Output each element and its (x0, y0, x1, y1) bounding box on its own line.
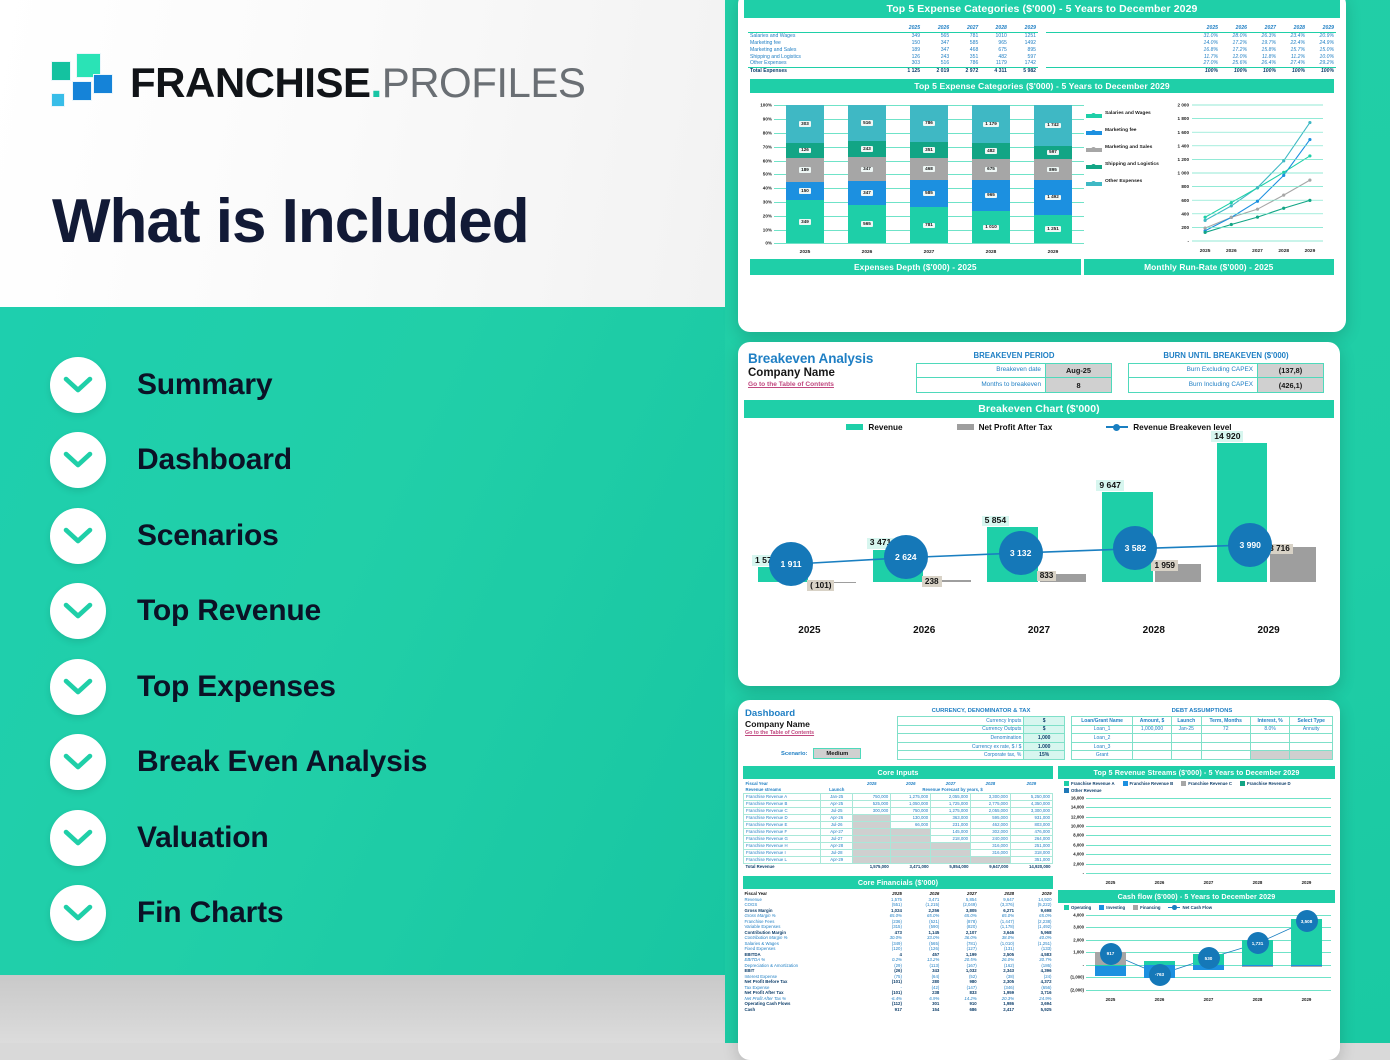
bar-segment: 1 179 (972, 105, 1010, 143)
table-row: Loan_2 (1072, 734, 1333, 743)
revenue-chart-plot: -2,0004,0006,0008,00010,00012,00014,0001… (1060, 796, 1333, 886)
y-tick-label: 60% (763, 158, 772, 163)
page-title: What is Included (52, 186, 529, 257)
bar-value-label: 786 (923, 121, 935, 126)
line-chart-legend: Salaries and WagesMarketing feeMarketing… (1086, 99, 1162, 257)
legend-item-revenue: Revenue (846, 423, 902, 432)
bar-column (1184, 798, 1233, 873)
legend-label: Salaries and Wages (1105, 111, 1151, 117)
legend-swatch (1064, 781, 1069, 786)
y-tick-label: 6,000 (1073, 842, 1084, 847)
bar-column: 1 7425978951 4921 251 (1022, 105, 1084, 243)
y-tick-label: 3,000 (1073, 925, 1084, 930)
bar-column: 5 8548333 132 (982, 436, 1097, 610)
bar-segment: 347 (848, 181, 886, 205)
table-row: Franchise Revenue FApr-27145,000302,0004… (744, 828, 1053, 835)
gridline: - (1086, 873, 1331, 874)
x-tick-label: 2029 (1282, 880, 1331, 885)
feature-label: Top Expenses (137, 670, 336, 704)
bottom-grey-strip (0, 975, 725, 1043)
bar-segment: 781 (910, 207, 948, 243)
bar-column (1135, 798, 1184, 873)
chevron-down-icon (50, 659, 106, 715)
x-tick-label: 2025 (752, 625, 867, 636)
bar-segment-investing (1242, 965, 1273, 966)
currency-denominator-tax-block: CURRENCY, DENOMINATOR & TAX Currency Inp… (897, 708, 1065, 760)
cashflow-chart-plot: (2,000)(1,000)-1,0002,0003,0004,000917-7… (1060, 913, 1333, 1003)
field-value: Aug-25 (1045, 364, 1111, 377)
revenue-streams-chart-band: Top 5 Revenue Streams ($'000) - 5 Years … (1058, 766, 1335, 779)
npat-value-label: ( 101) (807, 580, 834, 590)
col-head: 2026 (1220, 25, 1249, 32)
x-tick-label: 2027 (1184, 880, 1233, 885)
bar-value-label: 565 (861, 221, 873, 226)
table-row: Franchise Revenue AJan-25750,0001,275,00… (744, 793, 1053, 800)
net-cash-flow-bubble: 1,731 (1247, 932, 1269, 954)
logo-square-blue-mid (72, 81, 92, 101)
table-row: Marketing fee1503475859651492 (748, 40, 1038, 47)
expenses-absolute-table: 2025 2026 2027 2028 2029 Salaries and Wa… (748, 25, 1038, 74)
legend-item: Marketing fee (1086, 128, 1162, 135)
legend-swatch-npat (957, 424, 974, 430)
scenario-value[interactable]: Medium (813, 748, 861, 759)
legend-label: Other Expenses (1105, 179, 1142, 185)
legend-label: Net Profit After Tax (979, 423, 1053, 432)
bar-segment: 482 (972, 143, 1010, 158)
svg-text:2025: 2025 (1200, 248, 1211, 254)
legend-label: Other Revenue (1071, 788, 1102, 793)
y-tick-label: 2,000 (1073, 937, 1084, 942)
field-value: (426,1) (1257, 378, 1323, 391)
bar-value-label: 1 492 (1045, 195, 1061, 200)
field-label: Months to breakeven (917, 378, 1045, 391)
npat-value-label: 1 959 (1151, 560, 1178, 570)
svg-text:2028: 2028 (1278, 248, 1289, 254)
net-cash-flow-bubble: 3,508 (1296, 910, 1318, 932)
legend-swatch (1086, 148, 1102, 152)
bar-value-label: 895 (1047, 167, 1059, 172)
svg-text:1 600: 1 600 (1178, 130, 1190, 135)
bar-column: 516243347347565 (836, 105, 898, 243)
table-row: 31.0%28.0%26.3%23.4%20.9% (1046, 32, 1336, 39)
feature-item-summary[interactable]: Summary (50, 347, 650, 423)
bar-value-label: 126 (799, 148, 811, 153)
legend-label: Franchise Revenue B (1130, 781, 1174, 786)
y-tick-label: - (1083, 870, 1084, 875)
revenue-value-label: 14 920 (1211, 431, 1243, 442)
breakeven-chart-plot: 1 575( 101)1 9113 4712382 6245 8548333 1… (752, 436, 1326, 636)
y-tick-label: 100% (760, 103, 772, 108)
legend-swatch (1064, 788, 1069, 793)
col-head: 2025 (1191, 25, 1220, 32)
npat-value-label: 833 (1037, 571, 1057, 581)
x-tick-label: 2029 (1211, 625, 1326, 636)
company-name: Company Name (745, 719, 897, 729)
bar-value-label: 1 742 (1045, 123, 1061, 128)
table-row: Franchise Revenue EJul-2666,000231,00046… (744, 821, 1053, 828)
bar-column: 9 6471 9593 582 (1096, 436, 1211, 610)
legend-item: Marketing and Sales (1086, 145, 1162, 152)
bar-column (1086, 798, 1135, 873)
revenue-value-label: 5 854 (982, 516, 1010, 527)
table-header-row: Loan/Grant Name Amount, $ Launch Term, M… (1072, 717, 1333, 726)
y-tick-label: 50% (763, 172, 772, 177)
scenario-selector[interactable]: Scenario: Medium (745, 748, 897, 759)
legend-swatch-revenue (846, 424, 863, 430)
svg-text:800: 800 (1181, 185, 1189, 190)
svg-text:400: 400 (1181, 212, 1189, 217)
revenue-value-label: 9 647 (1096, 480, 1124, 491)
svg-text:2 000: 2 000 (1178, 103, 1190, 108)
col-head: 2028 (980, 25, 1009, 32)
bar-column: 3 4712382 624 (867, 436, 982, 610)
gridline: 0% (774, 243, 1084, 244)
feature-label: Summary (137, 368, 272, 402)
top-expenses-screenshot-card[interactable]: Top 5 Expense Categories ($'000) - 5 Yea… (738, 0, 1346, 332)
x-tick-label: 2027 (982, 625, 1097, 636)
table-row: Other Expenses30351678611791742 (748, 60, 1038, 67)
chevron-down-icon (50, 734, 106, 790)
line-chart-svg: -2004006008001 0001 2001 4001 6001 8002 … (1162, 99, 1327, 257)
legend-label: Net Cash Flow (1182, 905, 1212, 910)
table-of-contents-link[interactable]: Go to the Table of Contents (748, 381, 916, 388)
table-of-contents-link[interactable]: Go to the Table of Contents (745, 730, 897, 736)
gridline: (2,000) (1086, 990, 1331, 991)
y-tick-label: - (1083, 962, 1084, 967)
table-total-row: Total Expenses1 1252 0192 9724 3115 982 (748, 67, 1038, 74)
x-tick-label: 2025 (774, 250, 836, 255)
breakeven-analysis-screenshot-card[interactable]: Breakeven Analysis Company Name Go to th… (738, 342, 1340, 686)
logo-square-teal (51, 61, 71, 81)
core-inputs-band: Core Inputs (743, 766, 1053, 779)
bar-segment: 516 (848, 105, 886, 140)
breakeven-chart-title: Breakeven Chart ($'000) (744, 400, 1334, 418)
y-tick-label: 0% (765, 241, 772, 246)
y-tick-label: 16,000 (1071, 795, 1084, 800)
x-tick-label: 2029 (1022, 250, 1084, 255)
legend-swatch (1123, 781, 1128, 786)
bar-segment: 347 (848, 157, 886, 181)
legend-label: Revenue (868, 423, 902, 432)
burn-including-capex-row: Burn Including CAPEX (426,1) (1128, 377, 1324, 392)
burn-excluding-capex-row: Burn Excluding CAPEX (137,8) (1128, 363, 1324, 377)
feature-label: Dashboard (137, 443, 292, 477)
bar-segment: 349 (786, 200, 824, 243)
breakeven-period-title: BREAKEVEN PERIOD (916, 351, 1112, 360)
table-row: Denomination1,000 (898, 734, 1065, 743)
svg-text:200: 200 (1181, 225, 1189, 230)
expenses-tables: 2025 2026 2027 2028 2029 Salaries and Wa… (744, 25, 1340, 74)
monthly-run-rate-line-chart: Salaries and WagesMarketing feeMarketing… (1086, 99, 1338, 257)
svg-text:2027: 2027 (1252, 248, 1263, 254)
y-tick-label: 10% (763, 227, 772, 232)
brand-wordmark: FRANCHISE.PROFILES (130, 59, 585, 107)
legend-item: Other Expenses (1086, 179, 1162, 186)
brand-name-strong: FRANCHISE (130, 59, 371, 106)
burn-until-breakeven-block: BURN UNTIL BREAKEVEN ($'000) Burn Exclud… (1128, 351, 1324, 393)
cashflow-chart-legend: OperatingInvestingFinancingNet Cash Flow (1058, 903, 1335, 911)
logo-mosaic-icon (50, 52, 112, 114)
legend-swatch (1086, 131, 1102, 135)
x-tick-label: 2028 (1233, 880, 1282, 885)
y-tick-label: (2,000) (1070, 987, 1084, 992)
legend-label: Shipping and Logistics (1105, 162, 1159, 168)
legend-label: Franchise Revenue C (1188, 781, 1232, 786)
debt-table: Loan/Grant Name Amount, $ Launch Term, M… (1071, 716, 1333, 760)
bar-value-label: 585 (923, 191, 935, 196)
table-row: Grant (1072, 751, 1333, 760)
y-tick-label: 12,000 (1071, 814, 1084, 819)
bar-column: 1 575( 101)1 911 (752, 436, 867, 610)
svg-text:1 000: 1 000 (1178, 171, 1190, 176)
col-head: 2028 (1278, 25, 1307, 32)
legend-item: Franchise Revenue A (1064, 781, 1115, 786)
bar-value-label: 468 (923, 166, 935, 171)
table-row: Shipping and Logistics126243351482597 (748, 53, 1038, 60)
legend-swatch-line (1168, 907, 1180, 909)
legend-item: Investing (1099, 905, 1125, 910)
revenue-chart-legend: Franchise Revenue AFranchise Revenue BFr… (1058, 779, 1335, 794)
legend-item-npat: Net Profit After Tax (957, 423, 1053, 432)
currency-block-title: CURRENCY, DENOMINATOR & TAX (897, 708, 1065, 714)
feature-label: Top Revenue (137, 594, 321, 628)
col-head: 2029 (1307, 25, 1336, 32)
bar-column (1282, 798, 1331, 873)
breakeven-bubble: 1 911 (769, 542, 813, 586)
legend-swatch (1133, 905, 1138, 910)
x-tick-label: 2029 (1282, 997, 1331, 1002)
feature-item-dashboard[interactable]: Dashboard (50, 423, 650, 499)
svg-text:2029: 2029 (1305, 248, 1316, 254)
table-row: Franchise Revenue BApr-25525,0001,050,00… (744, 800, 1053, 807)
logo-square-blue-right (93, 74, 113, 94)
bar-value-label: 1 179 (983, 122, 999, 127)
feature-item-break-even-analysis[interactable]: Break Even Analysis (50, 725, 650, 801)
table-row: Franchise Revenue GJul-27218,000240,0002… (744, 835, 1053, 842)
chevron-down-icon (50, 508, 106, 564)
net-cash-flow-bubble: 530 (1198, 947, 1220, 969)
bar-segment-investing (1291, 965, 1322, 966)
table-total-row: 100%100%100%100%100% (1046, 67, 1336, 74)
legend-label: Marketing fee (1105, 128, 1137, 134)
company-name: Company Name (748, 367, 916, 379)
legend-label: Marketing and Sales (1105, 145, 1152, 151)
bar-column: 1 1794826759651 010 (960, 105, 1022, 243)
breakeven-bubble: 3 132 (999, 531, 1043, 575)
table-row: Franchise Revenue HApr-28316,000251,000 (744, 842, 1053, 849)
table-row: Currency Inputs$ (898, 717, 1065, 726)
cashflow-chart: OperatingInvestingFinancingNet Cash Flow… (1058, 903, 1335, 1003)
col-head: 2025 (893, 25, 922, 32)
chevron-down-icon (50, 583, 106, 639)
bar-value-label: 349 (799, 219, 811, 224)
top-left-white-panel (0, 0, 725, 307)
breakeven-sheet-title: Breakeven Analysis (748, 351, 916, 366)
feature-item-valuation[interactable]: Valuation (50, 800, 650, 876)
expenses-chart-title: Top 5 Expense Categories ($'000) - 5 Yea… (750, 79, 1334, 93)
y-tick-label: 20% (763, 213, 772, 218)
feature-label: Fin Charts (137, 896, 283, 930)
months-to-breakeven-row: Months to breakeven 8 (916, 377, 1112, 392)
core-financials-table: Fiscal Year20252026202720282029Revenue1,… (743, 891, 1053, 1012)
legend-label: Operating (1071, 905, 1091, 910)
footer-band-monthly-run-rate: Monthly Run-Rate ($'000) - 2025 (1084, 259, 1334, 275)
bar-value-label: 347 (861, 167, 873, 172)
svg-text:-: - (1187, 239, 1189, 244)
svg-text:2026: 2026 (1226, 248, 1237, 254)
bar-value-label: 150 (799, 188, 811, 193)
scenario-label: Scenario: (781, 751, 807, 757)
dashboard-screenshot-card[interactable]: Dashboard Company Name Go to the Table o… (738, 700, 1340, 1060)
table-row: Corporate tax, %15% (898, 751, 1065, 760)
x-tick-label: 2026 (867, 625, 982, 636)
debt-assumptions-block: DEBT ASSUMPTIONS Loan/Grant Name Amount,… (1071, 708, 1333, 760)
bar-column (1233, 798, 1282, 873)
x-tick-label: 2027 (898, 250, 960, 255)
line-chart-plot: -2004006008001 0001 2001 4001 6001 8002 … (1162, 99, 1338, 257)
bar-segment: 1 492 (1034, 180, 1072, 214)
bar-value-label: 516 (861, 120, 873, 125)
bar-segment: 597 (1034, 146, 1072, 160)
field-value: 8 (1045, 378, 1111, 391)
bar-value-label: 482 (985, 148, 997, 153)
y-tick-label: 10,000 (1071, 824, 1084, 829)
feature-label: Valuation (137, 821, 269, 855)
y-tick-label: 14,000 (1071, 805, 1084, 810)
table-row: Cash9171546862,4175,925 (743, 1006, 1053, 1012)
table-row: 11.7%12.0%11.8%11.2%10.0% (1046, 53, 1336, 60)
logo-square-lightblue (51, 93, 65, 107)
feature-item-fin-charts[interactable]: Fin Charts (50, 876, 650, 952)
table-row: Currency Outputs$ (898, 725, 1065, 734)
svg-text:1 200: 1 200 (1178, 157, 1190, 162)
y-tick-label: (1,000) (1070, 975, 1084, 980)
breakeven-bubble: 2 624 (884, 535, 928, 579)
legend-label: Franchise Revenue D (1247, 781, 1291, 786)
bar-segment: 150 (786, 182, 824, 201)
legend-item: Franchise Revenue D (1240, 781, 1291, 786)
expenses-stacked-bar-chart: 0%10%20%30%40%50%60%70%80%90%100%3031261… (746, 99, 1086, 257)
bar-value-label: 1 010 (983, 225, 999, 230)
bar-segment: 565 (848, 205, 886, 244)
bar-value-label: 675 (985, 167, 997, 172)
table-row: Franchise Revenue LApr-29351,000 (744, 856, 1053, 863)
bar-segment: 189 (786, 158, 824, 181)
field-label: Breakeven date (917, 364, 1045, 377)
y-tick-label: 30% (763, 200, 772, 205)
table-row: Loan_11,000,000Jan-25728.0%Annuity (1072, 725, 1333, 734)
net-cash-flow-bubble: -763 (1149, 964, 1171, 986)
chevron-down-icon (50, 810, 106, 866)
bar-segment: 1 010 (972, 211, 1010, 243)
field-label: Burn Including CAPEX (1129, 378, 1257, 391)
legend-swatch (1181, 781, 1186, 786)
bar-segment: 1 742 (1034, 105, 1072, 145)
legend-item: Franchise Revenue B (1123, 781, 1174, 786)
bar-value-label: 303 (799, 121, 811, 126)
brand-name-light: PROFILES (382, 59, 586, 106)
bar-value-label: 781 (923, 223, 935, 228)
net-cash-flow-bubble: 917 (1100, 943, 1122, 965)
col-head: 2029 (1009, 25, 1038, 32)
breakeven-period-block: BREAKEVEN PERIOD Breakeven date Aug-25 M… (916, 351, 1112, 393)
svg-text:1 800: 1 800 (1178, 117, 1190, 122)
chevron-down-icon (50, 885, 106, 941)
bar-segment: 351 (910, 142, 948, 158)
x-tick-label: 2026 (1135, 880, 1184, 885)
bar-segment: 895 (1034, 159, 1072, 180)
chevron-down-icon (50, 432, 106, 488)
bar-value-label: 1 251 (1045, 226, 1061, 231)
x-tick-label: 2028 (1096, 625, 1211, 636)
y-tick-label: 1,000 (1073, 950, 1084, 955)
feature-item-top-expenses[interactable]: Top Expenses (50, 649, 650, 725)
legend-swatch (1086, 182, 1102, 186)
breakeven-chart-legend: Revenue Net Profit After Tax Revenue Bre… (738, 418, 1340, 432)
bar-value-label: 189 (799, 167, 811, 172)
bar-column: 303126189150349 (774, 105, 836, 243)
table-row: Franchise Revenue CJul-25300,000750,0001… (744, 807, 1053, 814)
x-tick-label: 2026 (1135, 997, 1184, 1002)
legend-item: Franchise Revenue C (1181, 781, 1232, 786)
table-row: Franchise Revenue DApr-26130,000363,0005… (744, 814, 1053, 821)
bar-column: 786351468585781 (898, 105, 960, 243)
bar-segment-operating (1095, 965, 1126, 966)
bar-segment: 126 (786, 143, 824, 159)
y-tick-label: 2,000 (1073, 861, 1084, 866)
x-tick-label: 2027 (1184, 997, 1233, 1002)
bar-segment: 585 (910, 180, 948, 207)
table-row: Loan_3 (1072, 742, 1333, 751)
x-tick-label: 2028 (960, 250, 1022, 255)
expenses-footer-bands: Expenses Depth ($'000) - 2025 Monthly Ru… (744, 259, 1340, 281)
legend-swatch (1086, 165, 1102, 169)
feature-list: Summary Dashboard Scenarios Top Revenue … (50, 347, 650, 951)
legend-swatch (1086, 114, 1102, 118)
x-tick-label: 2025 (1086, 997, 1135, 1002)
chevron-down-icon (50, 357, 106, 413)
bar-segment: 303 (786, 105, 824, 142)
legend-item: Shipping and Logistics (1086, 162, 1162, 169)
y-tick-label: 40% (763, 186, 772, 191)
y-tick-label: 4,000 (1073, 852, 1084, 857)
legend-item: Salaries and Wages (1086, 111, 1162, 118)
debt-block-title: DEBT ASSUMPTIONS (1071, 708, 1333, 714)
svg-text:1 400: 1 400 (1178, 144, 1190, 149)
table-row: Franchise Revenue IJul-28316,000318,000 (744, 849, 1053, 856)
feature-item-scenarios[interactable]: Scenarios (50, 498, 650, 574)
legend-swatch (1064, 905, 1069, 910)
bar-segment: 1 251 (1034, 215, 1072, 244)
x-tick-label: 2025 (1086, 880, 1135, 885)
x-tick-label: 2028 (1233, 997, 1282, 1002)
bar-value-label: 347 (861, 190, 873, 195)
legend-item: Net Cash Flow (1168, 905, 1212, 910)
feature-item-top-revenue[interactable]: Top Revenue (50, 574, 650, 650)
legend-label: Investing (1106, 905, 1125, 910)
legend-label: Franchise Revenue A (1071, 781, 1115, 786)
legend-swatch (1099, 905, 1104, 910)
npat-value-label: 238 (922, 576, 942, 586)
col-head: 2026 (922, 25, 951, 32)
feature-label: Scenarios (137, 519, 279, 553)
currency-table: Currency Inputs$ Currency Outputs$ Denom… (897, 716, 1065, 760)
brand-name-dot: . (371, 59, 382, 106)
legend-item: Other Revenue (1064, 788, 1102, 793)
legend-label: Financing (1140, 905, 1160, 910)
bar-value-label: 597 (1047, 150, 1059, 155)
bar-value-label: 351 (923, 147, 935, 152)
